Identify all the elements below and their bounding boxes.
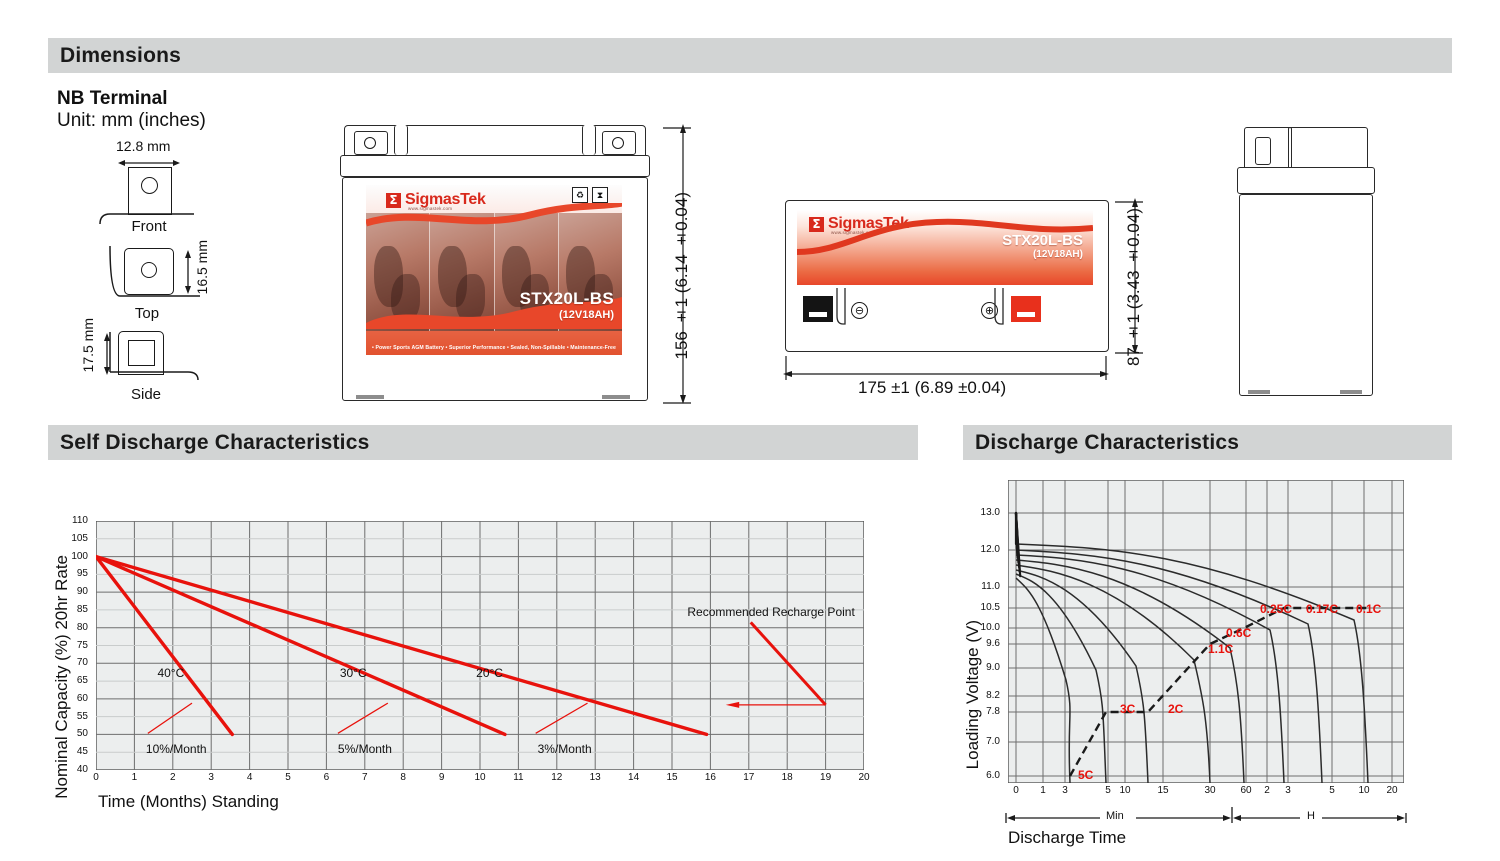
discharge-span-label-min: Min xyxy=(1106,810,1124,822)
x-tick: 20 xyxy=(1377,785,1407,796)
y-tick: 90 xyxy=(56,586,88,597)
terminal-view-front-label: Front xyxy=(118,218,180,235)
terminal-top-dim-arrow-icon xyxy=(182,250,194,294)
y-tick: 10.0 xyxy=(972,622,1000,633)
label-tagline: • Power Sports AGM Battery • Superior Pe… xyxy=(372,345,616,351)
y-tick: 12.0 xyxy=(972,544,1000,555)
y-tick: 45 xyxy=(56,746,88,757)
vent-channel-left xyxy=(833,288,849,328)
self-discharge-x-axis-title: Time (Months) Standing xyxy=(98,792,279,812)
negative-terminal-block xyxy=(803,296,833,322)
terminal-side-base-line xyxy=(104,328,204,382)
terminal-side-dim: 17.5 mm xyxy=(80,318,96,372)
positive-terminal-block xyxy=(1011,296,1041,322)
battery-vent-right xyxy=(582,125,596,155)
discharge-rate-label: 1.1C xyxy=(1208,642,1233,656)
y-tick: 9.0 xyxy=(972,662,1000,673)
self-discharge-x-ticks: 01234567891011121314151617181920 xyxy=(76,772,886,792)
y-tick: 50 xyxy=(56,728,88,739)
x-tick: 0 xyxy=(76,772,116,783)
self-discharge-y-ticks: 404550556065707580859095100105110 xyxy=(56,511,92,781)
battery-end-terminal xyxy=(1255,137,1271,165)
x-tick: 18 xyxy=(767,772,807,783)
y-tick: 70 xyxy=(56,657,88,668)
battery-front-view: Σ SigmasTek www.sigmastek.com STX20L-BS … xyxy=(340,125,648,403)
unit-note: Unit: mm (inches) xyxy=(57,110,206,132)
y-tick: 55 xyxy=(56,711,88,722)
y-tick: 65 xyxy=(56,675,88,686)
battery-length-dim: 175 ±1 (6.89 ±0.04) xyxy=(858,378,1006,398)
x-tick: 16 xyxy=(690,772,730,783)
chart-annotation: 40°C xyxy=(157,666,184,680)
section-title-dimensions: Dimensions xyxy=(48,44,181,68)
model-spec-side: (12V18AH) xyxy=(1002,249,1083,260)
model-spec: (12V18AH) xyxy=(520,309,614,321)
x-tick: 2 xyxy=(153,772,193,783)
terminal-side-dim-arrow-icon xyxy=(101,333,113,375)
x-tick: 7 xyxy=(345,772,385,783)
self-discharge-annotations: 40°C30°C20°C10%/Month5%/Month3%/MonthRec… xyxy=(96,521,864,770)
discharge-rate-labels: 0.1C0.17C0.25C0.6C1.1C2C3C5C xyxy=(1008,480,1404,783)
x-tick: 6 xyxy=(306,772,346,783)
discharge-span-label-hour: H xyxy=(1307,810,1315,822)
section-title-self-discharge: Self Discharge Characteristics xyxy=(48,431,369,455)
y-tick: 6.0 xyxy=(972,770,1000,781)
negative-polarity-icon: ⊖ xyxy=(851,302,868,319)
model-number-side: STX20L-BS xyxy=(1002,232,1083,249)
chart-annotation: 30°C xyxy=(340,666,367,680)
battery-end-divider xyxy=(1288,127,1292,169)
x-tick: 15 xyxy=(652,772,692,783)
y-tick: 75 xyxy=(56,640,88,651)
x-tick: 17 xyxy=(729,772,769,783)
battery-end-case xyxy=(1239,194,1373,396)
x-tick: 30 xyxy=(1195,785,1225,796)
y-tick: 11.0 xyxy=(972,581,1000,592)
discharge-rate-label: 3C xyxy=(1120,702,1135,716)
x-tick: 12 xyxy=(537,772,577,783)
chart-annotation: 10%/Month xyxy=(146,742,207,756)
negative-terminal-slot xyxy=(809,312,827,317)
y-tick: 9.6 xyxy=(972,638,1000,649)
battery-foot-left xyxy=(356,395,384,399)
battery-front-label: Σ SigmasTek www.sigmastek.com STX20L-BS … xyxy=(366,185,622,355)
y-tick: 7.8 xyxy=(972,706,1000,717)
battery-terminal-right-hole xyxy=(612,137,624,149)
discharge-y-ticks: 13.012.011.010.510.09.69.08.27.87.06.0 xyxy=(972,470,1004,790)
x-tick: 13 xyxy=(575,772,615,783)
discharge-time-span-arrows xyxy=(1000,802,1412,824)
y-tick: 7.0 xyxy=(972,736,1000,747)
discharge-rate-label: 0.1C xyxy=(1356,602,1381,616)
x-tick: 10 xyxy=(1349,785,1379,796)
y-tick: 60 xyxy=(56,693,88,704)
x-tick: 10 xyxy=(460,772,500,783)
battery-height-dim: 156 ±1 (6.14 ±0.04) xyxy=(672,192,692,359)
x-tick: 10 xyxy=(1110,785,1140,796)
x-tick: 1 xyxy=(114,772,154,783)
chart-annotation: 20°C xyxy=(476,666,503,680)
discharge-x-axis-title: Discharge Time xyxy=(1008,828,1126,848)
section-title-discharge: Discharge Characteristics xyxy=(963,431,1239,455)
model-block-front: STX20L-BS (12V18AH) xyxy=(520,289,614,321)
terminal-front-hole xyxy=(141,177,158,194)
section-header-discharge: Discharge Characteristics xyxy=(963,425,1452,460)
battery-end-foot-right xyxy=(1340,390,1362,394)
nb-terminal-title: NB Terminal xyxy=(57,88,168,110)
positive-terminal-slot xyxy=(1017,312,1035,317)
model-block-side: STX20L-BS (12V18AH) xyxy=(1002,232,1083,260)
x-tick: 3 xyxy=(1273,785,1303,796)
y-tick: 95 xyxy=(56,568,88,579)
y-tick: 110 xyxy=(56,515,88,526)
y-tick: 13.0 xyxy=(972,507,1000,518)
vent-channel-right xyxy=(991,288,1007,328)
recycle-icon: ♻ xyxy=(572,187,588,203)
battery-depth-dim: 87 ±1 (3.43 ±0.04) xyxy=(1124,208,1144,366)
discharge-x-ticks: 0135101530602351020 xyxy=(995,785,1415,803)
terminal-width-dim: 12.8 mm xyxy=(116,138,170,154)
model-number: STX20L-BS xyxy=(520,289,614,309)
battery-vent-left xyxy=(394,125,408,155)
x-tick: 11 xyxy=(498,772,538,783)
x-tick: 3 xyxy=(1050,785,1080,796)
y-tick: 85 xyxy=(56,604,88,615)
y-tick: 100 xyxy=(56,551,88,562)
section-header-self-discharge: Self Discharge Characteristics xyxy=(48,425,918,460)
battery-end-view xyxy=(1232,127,1392,402)
battery-terminal-left-hole xyxy=(364,137,376,149)
chart-annotation: 5%/Month xyxy=(338,742,392,756)
discharge-rate-label: 2C xyxy=(1168,702,1183,716)
battery-lid-band xyxy=(340,155,650,177)
x-tick: 9 xyxy=(422,772,462,783)
x-tick: 20 xyxy=(844,772,884,783)
y-tick: 80 xyxy=(56,622,88,633)
battery-side-view: Σ SigmasTek www.sigmastek.com STX20L-BS … xyxy=(785,200,1107,350)
x-tick: 0 xyxy=(1001,785,1031,796)
battery-end-foot-left xyxy=(1248,390,1270,394)
discharge-rate-label: 0.17C xyxy=(1306,602,1338,616)
x-tick: 3 xyxy=(191,772,231,783)
chart-annotation: Recommended Recharge Point xyxy=(687,605,854,619)
discharge-rate-label: 0.25C xyxy=(1260,602,1292,616)
discharge-rate-label: 5C xyxy=(1078,768,1093,782)
terminal-top-dim: 16.5 mm xyxy=(194,240,210,294)
battery-side-label: Σ SigmasTek www.sigmastek.com STX20L-BS … xyxy=(797,210,1093,285)
x-tick: 4 xyxy=(230,772,270,783)
terminal-view-side-label: Side xyxy=(115,386,177,403)
discharge-rate-label: 0.6C xyxy=(1226,626,1251,640)
chart-annotation: 3%/Month xyxy=(538,742,592,756)
battery-foot-right xyxy=(602,395,630,399)
x-tick: 15 xyxy=(1148,785,1178,796)
y-tick: 105 xyxy=(56,533,88,544)
x-tick: 19 xyxy=(806,772,846,783)
x-tick: 5 xyxy=(1317,785,1347,796)
y-tick: 8.2 xyxy=(972,690,1000,701)
battery-top-cover xyxy=(344,125,646,157)
x-tick: 8 xyxy=(383,772,423,783)
terminal-view-top-label: Top xyxy=(116,305,178,322)
x-tick: 14 xyxy=(614,772,654,783)
x-tick: 5 xyxy=(268,772,308,783)
section-header-dimensions: Dimensions xyxy=(48,38,1452,73)
disposal-icon: ⧗ xyxy=(592,187,608,203)
battery-end-band xyxy=(1237,167,1375,194)
y-tick: 10.5 xyxy=(972,602,1000,613)
label-wave-top xyxy=(366,203,622,237)
